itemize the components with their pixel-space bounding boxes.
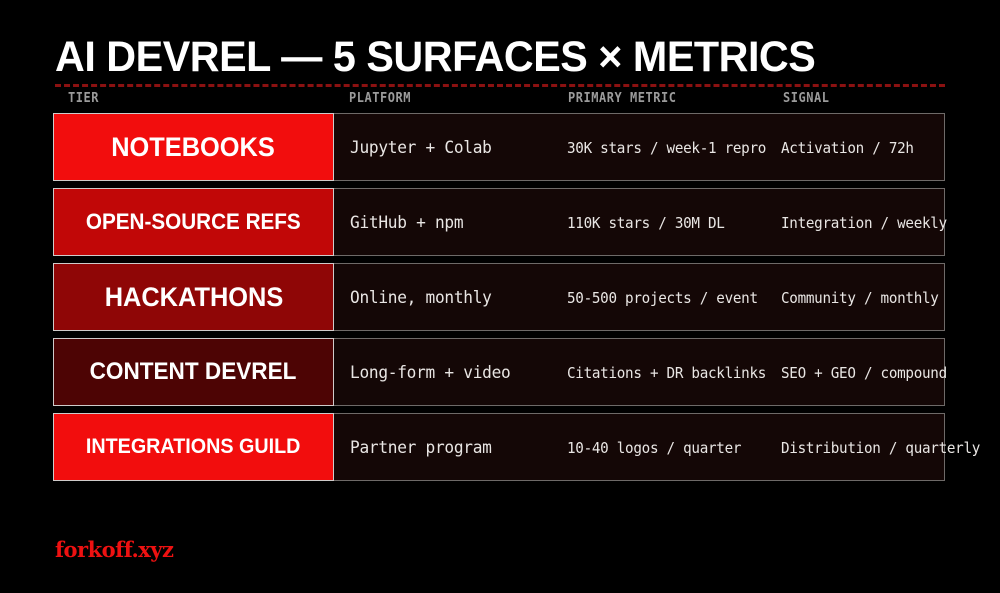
cell-primary-metric: 110K stars / 30M DL [567,189,725,257]
tier-label: INTEGRATIONS GUILD [86,435,301,459]
cell-primary-metric: 10-40 logos / quarter [567,414,741,482]
tier-label: CONTENT DEVREL [90,358,297,386]
table-row[interactable]: HACKATHONSOnline, monthly50-500 projects… [53,263,945,331]
tier-badge[interactable]: HACKATHONS [53,263,334,331]
tier-label: OPEN-SOURCE REFS [86,209,301,235]
tier-label: HACKATHONS [104,282,283,313]
page-title: AI DEVREL — 5 SURFACES × METRICS [55,36,815,79]
cell-platform: Long-form + video [350,339,510,407]
column-header-row: TIER PLATFORM PRIMARY METRIC SIGNAL [55,91,945,111]
cell-primary-metric: 30K stars / week-1 repro [567,114,766,182]
slide-root: AI DEVREL — 5 SURFACES × METRICS TIER PL… [0,0,1000,593]
tier-badge[interactable]: NOTEBOOKS [53,113,334,181]
table-row[interactable]: OPEN-SOURCE REFSGitHub + npm110K stars /… [53,188,945,256]
table-row[interactable]: NOTEBOOKSJupyter + Colab30K stars / week… [53,113,945,181]
cell-platform: Partner program [350,414,492,482]
table-row[interactable]: CONTENT DEVRELLong-form + videoCitations… [53,338,945,406]
column-header-tier: TIER [68,91,99,106]
cell-signal: Activation / 72h [781,114,914,182]
tier-badge[interactable]: OPEN-SOURCE REFS [53,188,334,256]
column-header-signal: SIGNAL [783,91,830,106]
cell-signal: Community / monthly [781,264,939,332]
cell-signal: SEO + GEO / compound [781,339,947,407]
brand-footer: forkoff.xyz [55,537,173,562]
cell-signal: Integration / weekly [781,189,947,257]
column-header-metric: PRIMARY METRIC [568,91,677,106]
cell-platform: GitHub + npm [350,189,463,257]
cell-platform: Jupyter + Colab [350,114,492,182]
cell-primary-metric: Citations + DR backlinks [567,339,766,407]
title-divider [55,84,945,87]
cell-signal: Distribution / quarterly [781,414,980,482]
surfaces-table: NOTEBOOKSJupyter + Colab30K stars / week… [53,113,945,481]
cell-platform: Online, monthly [350,264,492,332]
tier-label: NOTEBOOKS [112,132,276,163]
tier-badge[interactable]: CONTENT DEVREL [53,338,334,406]
tier-badge[interactable]: INTEGRATIONS GUILD [53,413,334,481]
cell-primary-metric: 50-500 projects / event [567,264,758,332]
table-row[interactable]: INTEGRATIONS GUILDPartner program10-40 l… [53,413,945,481]
column-header-platform: PLATFORM [349,91,411,106]
